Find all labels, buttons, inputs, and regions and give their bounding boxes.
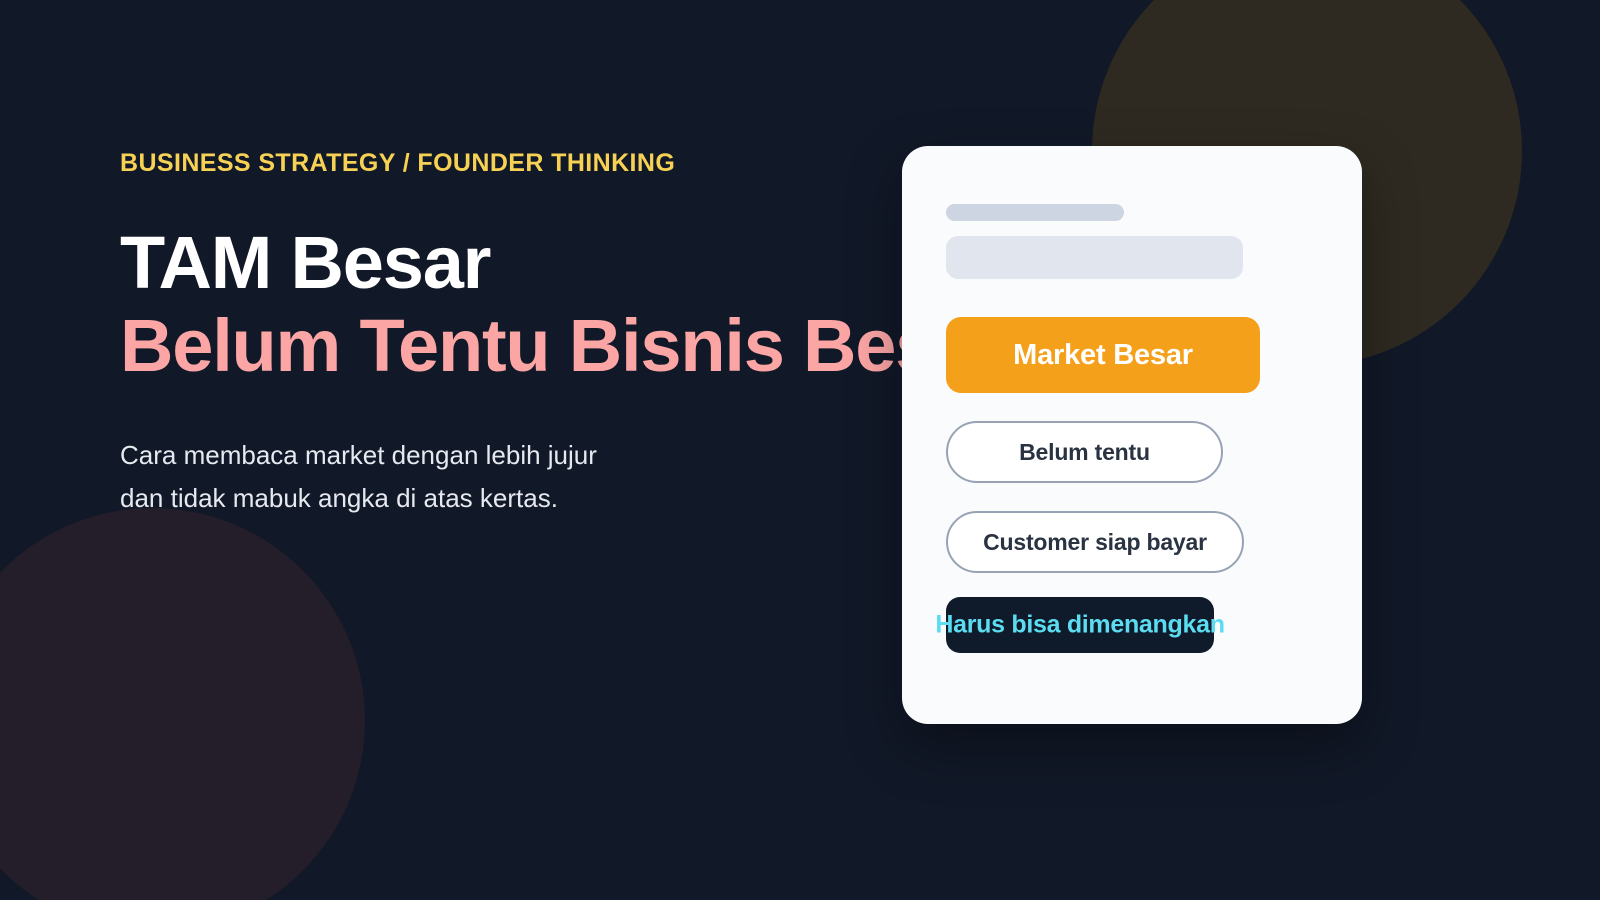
illustration-card: Market Besar Belum tentu Customer siap b… <box>902 146 1362 724</box>
market-besar-button[interactable]: Market Besar <box>946 317 1260 393</box>
hero-subtitle-line-1: Cara membaca market dengan lebih jujur <box>120 434 920 478</box>
hero-headline: TAM Besar Belum Tentu Bisnis Besar <box>120 222 920 388</box>
hero-subtitle: Cara membaca market dengan lebih jujur d… <box>120 434 920 521</box>
decorative-circle-bottom-left <box>0 508 365 900</box>
card-content: Market Besar Belum tentu Customer siap b… <box>946 204 1318 653</box>
harus-bisa-dimenangkan-button[interactable]: Harus bisa dimenangkan <box>946 597 1214 653</box>
hero-headline-line-2: Belum Tentu Bisnis Besar <box>120 305 920 388</box>
skeleton-content-block <box>946 236 1243 279</box>
belum-tentu-button[interactable]: Belum tentu <box>946 421 1223 483</box>
customer-siap-bayar-button[interactable]: Customer siap bayar <box>946 511 1244 573</box>
hero-eyebrow: BUSINESS STRATEGY / FOUNDER THINKING <box>120 148 920 178</box>
hero-subtitle-line-2: dan tidak mabuk angka di atas kertas. <box>120 477 920 521</box>
skeleton-title-bar <box>946 204 1124 221</box>
hero-headline-line-1: TAM Besar <box>120 222 920 305</box>
hero-text-column: BUSINESS STRATEGY / FOUNDER THINKING TAM… <box>120 148 920 521</box>
highlight-pill-label: Harus bisa dimenangkan <box>935 611 1224 640</box>
